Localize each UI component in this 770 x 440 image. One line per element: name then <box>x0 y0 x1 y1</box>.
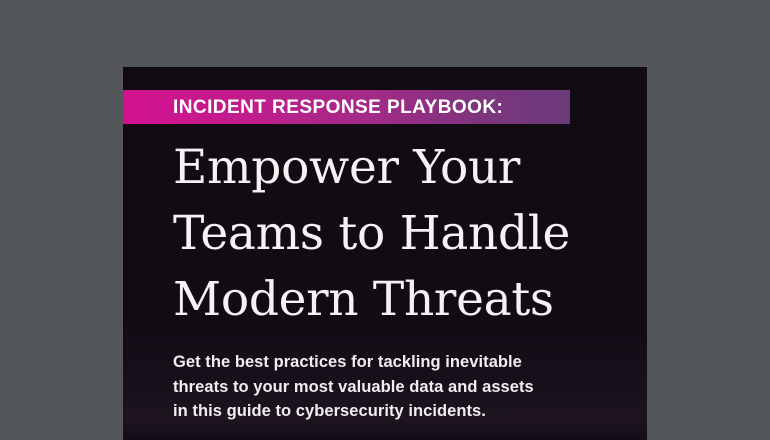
asset-cover-card[interactable]: Incident Response Playbook: Empower Your… <box>123 67 647 440</box>
description-line-1: Get the best practices for tackling inev… <box>173 350 603 375</box>
page-title: Empower Your Teams to Handle Modern Thre… <box>173 135 623 333</box>
description-line-2: threats to your most valuable data and a… <box>173 375 603 400</box>
headline-line-1: Empower Your <box>173 135 623 201</box>
headline-line-3: Modern Threats <box>173 267 623 333</box>
cover-description: Get the best practices for tackling inev… <box>173 350 603 424</box>
description-line-3: in this guide to cybersecurity incidents… <box>173 399 603 424</box>
kicker-banner: Incident Response Playbook: <box>123 90 570 124</box>
headline-line-2: Teams to Handle <box>173 201 623 267</box>
kicker-label: Incident Response Playbook: <box>173 98 503 117</box>
page-canvas: Incident Response Playbook: Empower Your… <box>0 0 770 440</box>
